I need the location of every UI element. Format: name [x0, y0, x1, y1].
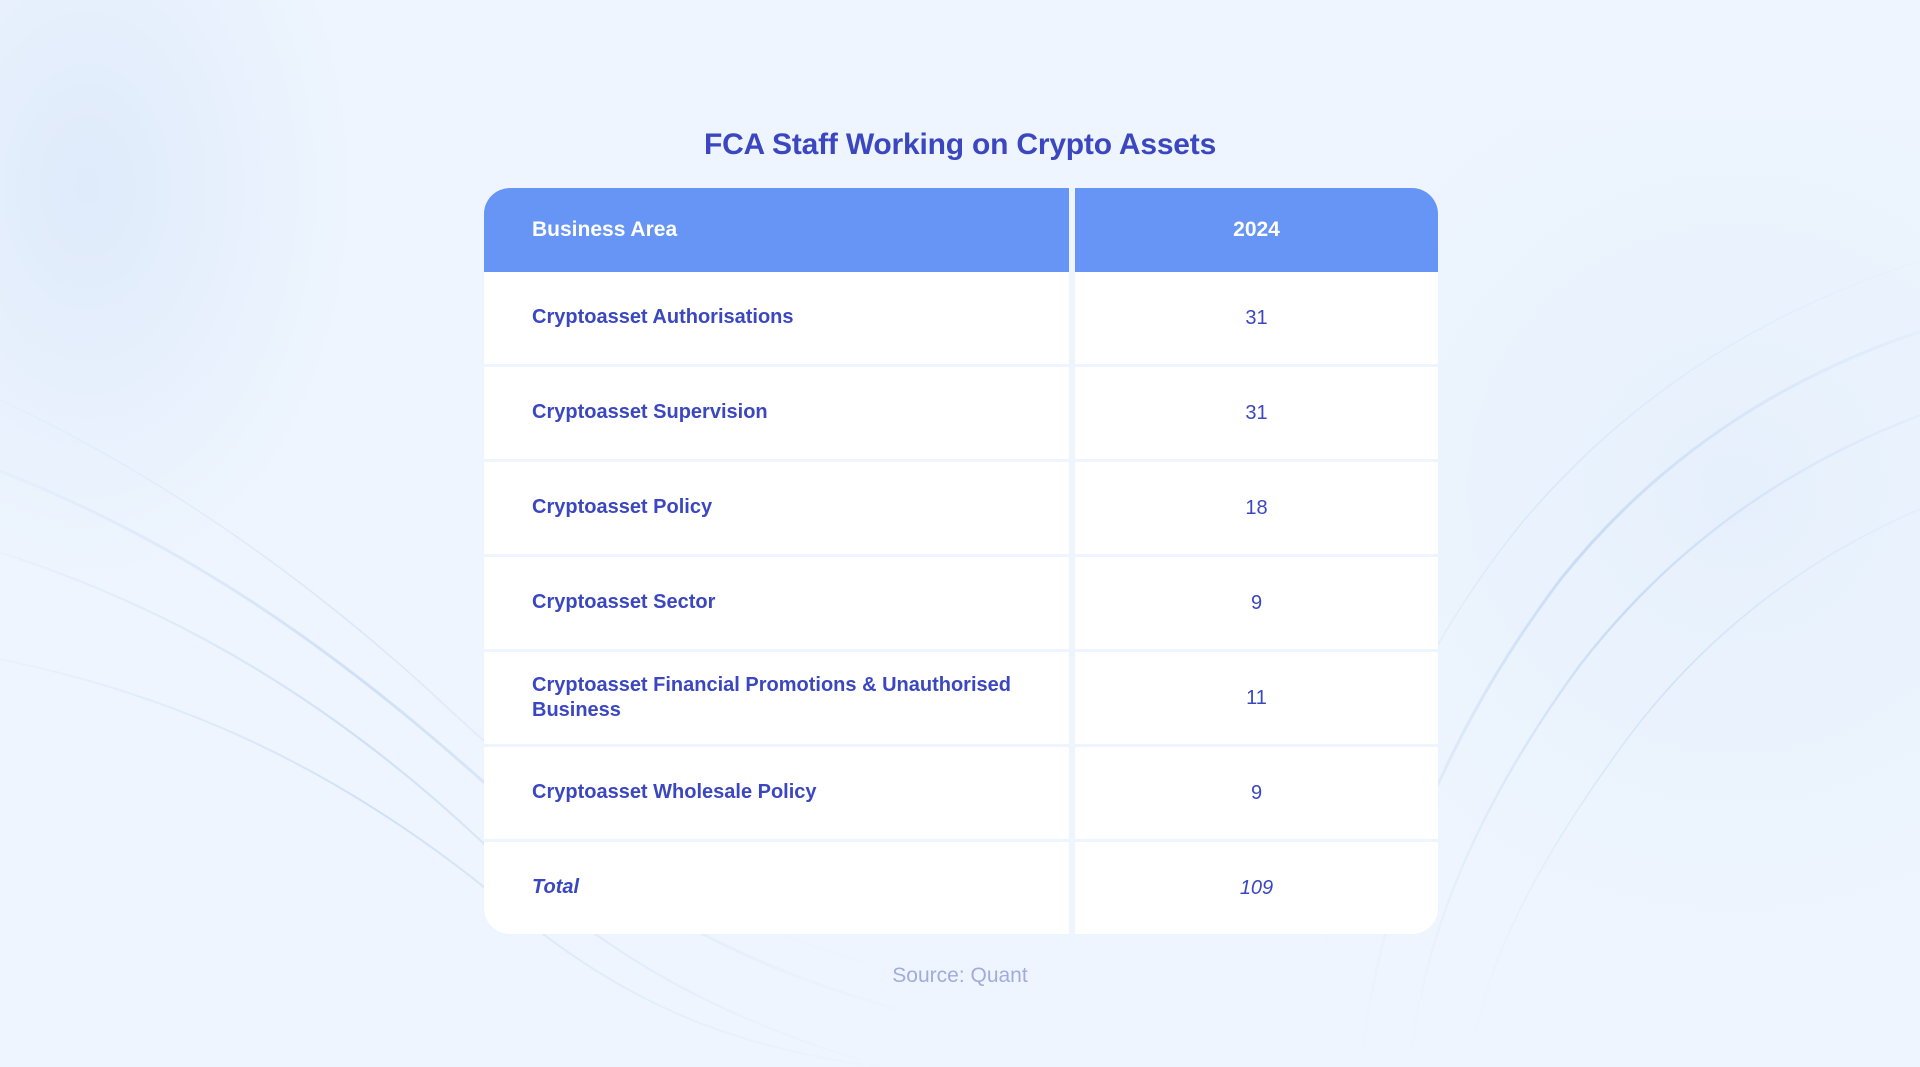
- column-header-business-area[interactable]: Business Area: [484, 188, 1069, 272]
- staff-table: Business Area 2024 Cryptoasset Authorisa…: [484, 188, 1438, 934]
- cell-value-2024: 31: [1075, 367, 1438, 462]
- cell-business-area: Cryptoasset Financial Promotions & Unaut…: [484, 652, 1069, 747]
- source-note: Source: Quant: [0, 964, 1920, 988]
- table-total-row: Total 109: [484, 842, 1438, 934]
- column-header-2024[interactable]: 2024: [1075, 188, 1438, 272]
- cell-value-2024: 11: [1075, 652, 1438, 747]
- table-row: Cryptoasset Financial Promotions & Unaut…: [484, 652, 1438, 747]
- cell-total-value: 109: [1075, 842, 1438, 934]
- table-row: Cryptoasset Wholesale Policy 9: [484, 747, 1438, 842]
- chart-canvas: FCA Staff Working on Crypto Assets Busin…: [0, 0, 1920, 1067]
- chart-content: FCA Staff Working on Crypto Assets Busin…: [0, 0, 1920, 1067]
- data-table-container: Business Area 2024 Cryptoasset Authorisa…: [484, 188, 1438, 934]
- page-title: FCA Staff Working on Crypto Assets: [0, 128, 1920, 162]
- cell-value-2024: 9: [1075, 747, 1438, 842]
- cell-value-2024: 18: [1075, 462, 1438, 557]
- table-row: Cryptoasset Supervision 31: [484, 367, 1438, 462]
- cell-total-label: Total: [484, 842, 1069, 934]
- cell-business-area: Cryptoasset Wholesale Policy: [484, 747, 1069, 842]
- cell-business-area: Cryptoasset Sector: [484, 557, 1069, 652]
- cell-value-2024: 9: [1075, 557, 1438, 652]
- cell-business-area: Cryptoasset Policy: [484, 462, 1069, 557]
- table-body: Cryptoasset Authorisations 31 Cryptoasse…: [484, 272, 1438, 934]
- table-header-row: Business Area 2024: [484, 188, 1438, 272]
- table-row: Cryptoasset Authorisations 31: [484, 272, 1438, 367]
- cell-business-area: Cryptoasset Supervision: [484, 367, 1069, 462]
- cell-business-area: Cryptoasset Authorisations: [484, 272, 1069, 367]
- cell-value-2024: 31: [1075, 272, 1438, 367]
- table-header: Business Area 2024: [484, 188, 1438, 272]
- table-row: Cryptoasset Policy 18: [484, 462, 1438, 557]
- table-row: Cryptoasset Sector 9: [484, 557, 1438, 652]
